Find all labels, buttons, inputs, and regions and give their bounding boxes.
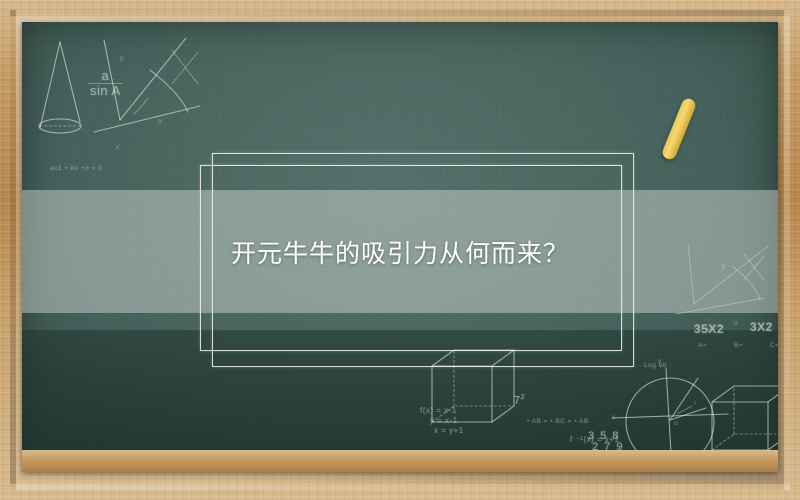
chalk-tray xyxy=(22,450,778,472)
page-title: 开元牛牛的吸引力从何而来？ xyxy=(22,190,778,313)
blackboard-surface: a sin A ax2 + bx +c = 0 y x o y x o f(x)… xyxy=(22,22,778,472)
chalkboard-banner: a sin A ax2 + bx +c = 0 y x o y x o f(x)… xyxy=(0,0,800,500)
